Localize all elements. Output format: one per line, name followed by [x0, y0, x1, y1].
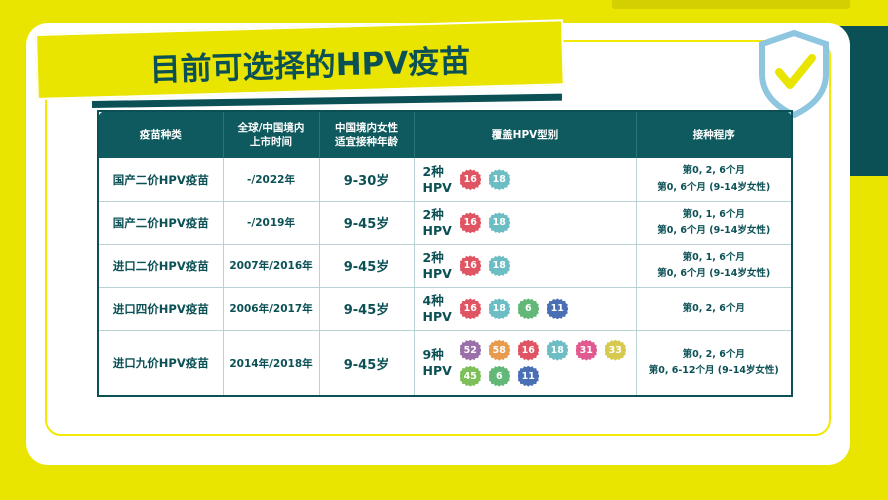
hpv-type-badge: 18 — [489, 298, 510, 319]
hpv-type-badge: 33 — [605, 340, 626, 361]
cell-age-range: 9-45岁 — [319, 201, 414, 244]
cell-hpv-types: 9种HPV52581618313345611 — [414, 330, 636, 396]
cell-vaccine-name: 进口九价HPV疫苗 — [98, 330, 223, 396]
valence-label: 2种HPV — [423, 207, 452, 238]
column-header-hpv-types: 覆盖HPV型别 — [414, 111, 636, 158]
column-header-schedule: 接种程序 — [636, 111, 792, 158]
hpv-type-badge: 16 — [460, 298, 481, 319]
hpv-type-badge: 16 — [518, 340, 539, 361]
hpv-types-group: 2种HPV1618 — [423, 207, 633, 238]
hpv-types-group: 2种HPV1618 — [423, 250, 633, 281]
cell-hpv-types: 2种HPV1618 — [414, 244, 636, 287]
hpv-type-badge: 18 — [489, 212, 510, 233]
cell-launch-date: 2006年/2017年 — [223, 287, 319, 330]
hpv-type-badges: 1618 — [460, 169, 510, 190]
hpv-type-badge: 11 — [518, 366, 539, 387]
hpv-types-group: 4种HPV1618611 — [423, 293, 633, 324]
cell-age-range: 9-45岁 — [319, 287, 414, 330]
hpv-type-badge: 18 — [547, 340, 568, 361]
header-text: 疫苗种类 — [140, 129, 182, 141]
valence-label: 2种HPV — [423, 164, 452, 195]
hpv-type-badge: 16 — [460, 169, 481, 190]
cell-schedule: 第0, 2, 6个月第0, 6个月 (9-14岁女性) — [636, 158, 792, 201]
header-text: 中国境内女性适宜接种年龄 — [335, 122, 398, 148]
hpv-type-badge: 31 — [576, 340, 597, 361]
table-header-row: 疫苗种类 全球/中国境内上市时间 中国境内女性适宜接种年龄 覆盖HPV型别 接种… — [98, 111, 792, 158]
cell-schedule: 第0, 2, 6个月第0, 6-12个月 (9-14岁女性) — [636, 330, 792, 396]
hpv-type-badges: 52581618313345611 — [460, 340, 633, 387]
hpv-type-badge: 16 — [460, 212, 481, 233]
column-header-launch-date: 全球/中国境内上市时间 — [223, 111, 319, 158]
cell-launch-date: -/2022年 — [223, 158, 319, 201]
cell-launch-date: -/2019年 — [223, 201, 319, 244]
table-row: 国产二价HPV疫苗-/2019年9-45岁2种HPV1618第0, 1, 6个月… — [98, 201, 792, 244]
vaccine-table-container: 疫苗种类 全球/中国境内上市时间 中国境内女性适宜接种年龄 覆盖HPV型别 接种… — [97, 110, 791, 392]
cell-age-range: 9-30岁 — [319, 158, 414, 201]
cell-hpv-types: 4种HPV1618611 — [414, 287, 636, 330]
hpv-type-badge: 58 — [489, 340, 510, 361]
shield-check-icon — [757, 30, 831, 118]
hpv-types-group: 9种HPV52581618313345611 — [423, 340, 633, 387]
hpv-vaccine-table: 疫苗种类 全球/中国境内上市时间 中国境内女性适宜接种年龄 覆盖HPV型别 接种… — [97, 110, 793, 397]
hpv-type-badge: 6 — [489, 366, 510, 387]
hpv-type-badge: 18 — [489, 169, 510, 190]
table-row: 进口二价HPV疫苗2007年/2016年9-45岁2种HPV1618第0, 1,… — [98, 244, 792, 287]
cell-launch-date: 2007年/2016年 — [223, 244, 319, 287]
cell-hpv-types: 2种HPV1618 — [414, 158, 636, 201]
cell-vaccine-name: 进口四价HPV疫苗 — [98, 287, 223, 330]
cell-schedule: 第0, 2, 6个月 — [636, 287, 792, 330]
hpv-types-group: 2种HPV1618 — [423, 164, 633, 195]
cell-vaccine-name: 进口二价HPV疫苗 — [98, 244, 223, 287]
header-text: 全球/中国境内上市时间 — [238, 122, 305, 148]
cell-age-range: 9-45岁 — [319, 244, 414, 287]
hpv-type-badge: 52 — [460, 340, 481, 361]
cell-hpv-types: 2种HPV1618 — [414, 201, 636, 244]
header-text: 接种程序 — [693, 129, 735, 141]
column-header-vaccine-type: 疫苗种类 — [98, 111, 223, 158]
table-row: 进口九价HPV疫苗2014年/2018年9-45岁9种HPV5258161831… — [98, 330, 792, 396]
cell-vaccine-name: 国产二价HPV疫苗 — [98, 201, 223, 244]
table-body: 国产二价HPV疫苗-/2022年9-30岁2种HPV1618第0, 2, 6个月… — [98, 158, 792, 396]
cell-age-range: 9-45岁 — [319, 330, 414, 396]
valence-label: 9种HPV — [423, 347, 452, 378]
column-header-age-range: 中国境内女性适宜接种年龄 — [319, 111, 414, 158]
hpv-type-badges: 1618 — [460, 255, 510, 276]
hpv-type-badge: 45 — [460, 366, 481, 387]
top-shadow-strip — [612, 0, 850, 9]
hpv-type-badges: 1618611 — [460, 298, 568, 319]
valence-label: 2种HPV — [423, 250, 452, 281]
hpv-type-badge: 16 — [460, 255, 481, 276]
cell-launch-date: 2014年/2018年 — [223, 330, 319, 396]
cell-schedule: 第0, 1, 6个月第0, 6个月 (9-14岁女性) — [636, 244, 792, 287]
hpv-type-badge: 6 — [518, 298, 539, 319]
hpv-type-badge: 18 — [489, 255, 510, 276]
table-row: 进口四价HPV疫苗2006年/2017年9-45岁4种HPV1618611第0,… — [98, 287, 792, 330]
cell-schedule: 第0, 1, 6个月第0, 6个月 (9-14岁女性) — [636, 201, 792, 244]
header-text: 覆盖HPV型别 — [492, 129, 559, 141]
hpv-type-badges: 1618 — [460, 212, 510, 233]
cell-vaccine-name: 国产二价HPV疫苗 — [98, 158, 223, 201]
hpv-type-badge: 11 — [547, 298, 568, 319]
table-row: 国产二价HPV疫苗-/2022年9-30岁2种HPV1618第0, 2, 6个月… — [98, 158, 792, 201]
valence-label: 4种HPV — [423, 293, 452, 324]
